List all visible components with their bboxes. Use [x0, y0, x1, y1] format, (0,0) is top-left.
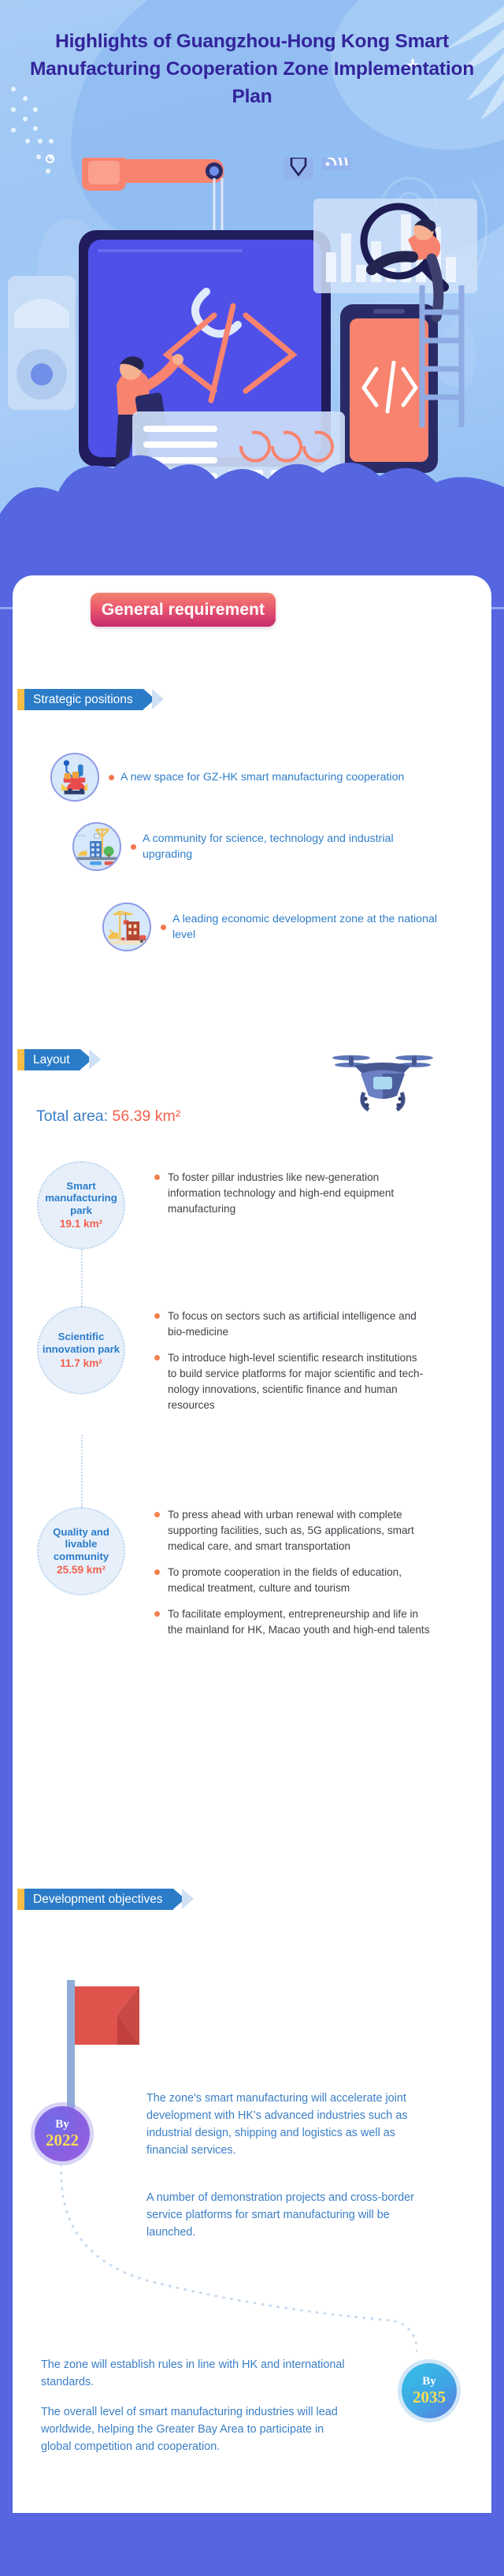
strategic-item-2: A community for science, technology and … [72, 822, 435, 871]
park-area: 25.59 km² [57, 1564, 106, 1576]
total-area-label: Total area: [36, 1107, 108, 1125]
strategic-item-text: A community for science, technology and … [143, 831, 435, 862]
park-name: Scientific innovation park [39, 1331, 124, 1355]
total-area-value: 56.39 km² [112, 1107, 180, 1125]
bullet-dot [154, 1512, 160, 1517]
park-circle-quality-livable-community: Quality and livable community 25.59 km² [37, 1507, 125, 1595]
smart-manufacturing-illustration [0, 158, 504, 552]
park-bullets-smart-manufacturing: To foster pillar industries like new-gen… [154, 1170, 422, 1227]
park-area: 19.1 km² [60, 1218, 102, 1230]
total-area: Total area: 56.39 km² [36, 1107, 180, 1126]
general-requirement-banner: General requirement [91, 593, 276, 627]
bullet-dot [154, 1611, 160, 1617]
park-circle-smart-manufacturing: Smart manufacturing park 19.1 km² [37, 1161, 125, 1249]
list-item: To facilitate employment, entrepreneursh… [154, 1606, 432, 1638]
park-connector-1 [81, 1249, 83, 1306]
milestone-badge-2022: By 2022 [35, 2106, 90, 2161]
park-area: 11.7 km² [60, 1357, 102, 1370]
tag-label: Strategic positions [24, 689, 143, 710]
page-title: Highlights of Guangzhou-Hong Kong Smart … [0, 28, 504, 110]
milestone-2035-paragraph-2: The overall level of smart manufacturing… [41, 2404, 340, 2456]
robot-arm-factory-icon [50, 753, 99, 802]
list-item: To press ahead with urban renewal with c… [154, 1507, 432, 1554]
list-item: To promote cooperation in the fields of … [154, 1565, 432, 1596]
tag-arrow-shadow [152, 689, 164, 709]
milestone-year: 2035 [413, 2388, 446, 2406]
tag-arrow-shadow [89, 1049, 101, 1070]
bullet-text: To foster pillar industries like new-gen… [168, 1170, 422, 1217]
park-bullets-scientific-innovation: To focus on sectors such as artificial i… [154, 1308, 428, 1424]
section-tag-layout: Layout [17, 1049, 101, 1070]
bullet-dot [131, 844, 136, 850]
section-tag-development-objectives: Development objectives [17, 1889, 194, 1910]
section-tag-strategic-positions: Strategic positions [17, 689, 164, 710]
bullet-text: To facilitate employment, entrepreneursh… [168, 1606, 432, 1638]
tag-arrow-shadow [182, 1889, 194, 1909]
bullet-text: To introduce high-level scientific resea… [168, 1350, 428, 1413]
milestone-2035-paragraph-1: The zone will establish rules in line wi… [41, 2357, 348, 2392]
list-item: To foster pillar industries like new-gen… [154, 1170, 422, 1217]
milestone-year: 2022 [46, 2131, 79, 2149]
strategic-item-text: A new space for GZ-HK smart manufacturin… [120, 769, 404, 785]
park-circle-scientific-innovation: Scientific innovation park 11.7 km² [37, 1306, 125, 1394]
bullet-text: To press ahead with urban renewal with c… [168, 1507, 432, 1554]
milestone-2022-paragraph-1: The zone's smart manufacturing will acce… [146, 2090, 419, 2160]
tag-label: Development objectives [24, 1889, 173, 1910]
city-construction-icon [72, 822, 121, 871]
drone-icon [331, 1040, 435, 1113]
park-bullets-quality-livable-community: To press ahead with urban renewal with c… [154, 1507, 432, 1648]
bullet-dot [154, 1313, 160, 1319]
bullet-text: To focus on sectors such as artificial i… [168, 1308, 428, 1340]
bullet-dot [154, 1174, 160, 1180]
strategic-item-1: A new space for GZ-HK smart manufacturin… [50, 753, 428, 802]
bullet-text: To promote cooperation in the fields of … [168, 1565, 432, 1596]
tag-accent-bar [17, 1889, 24, 1910]
bullet-dot [154, 1355, 160, 1361]
hero-header: ✛ Highlights of Guangzhou-Hong Kong Smar… [0, 0, 504, 552]
park-connector-2 [81, 1435, 83, 1507]
strategic-item-3: A leading economic development zone at t… [102, 903, 441, 951]
bullet-dot [161, 925, 166, 930]
park-name: Quality and livable community [39, 1526, 124, 1563]
crane-building-icon [102, 903, 151, 951]
list-item: To focus on sectors such as artificial i… [154, 1308, 428, 1340]
park-name: Smart manufacturing park [39, 1180, 124, 1217]
milestone-by-label: By [55, 2119, 69, 2131]
strategic-item-text: A leading economic development zone at t… [172, 911, 441, 943]
footer-background [0, 2513, 504, 2576]
tag-accent-bar [17, 689, 24, 710]
milestone-badge-2035: By 2035 [402, 2363, 457, 2418]
tag-label: Layout [24, 1049, 80, 1070]
bullet-dot [109, 775, 114, 780]
tag-accent-bar [17, 1049, 24, 1070]
bullet-dot [154, 1569, 160, 1575]
list-item: To introduce high-level scientific resea… [154, 1350, 428, 1413]
milestone-by-label: By [422, 2376, 436, 2388]
